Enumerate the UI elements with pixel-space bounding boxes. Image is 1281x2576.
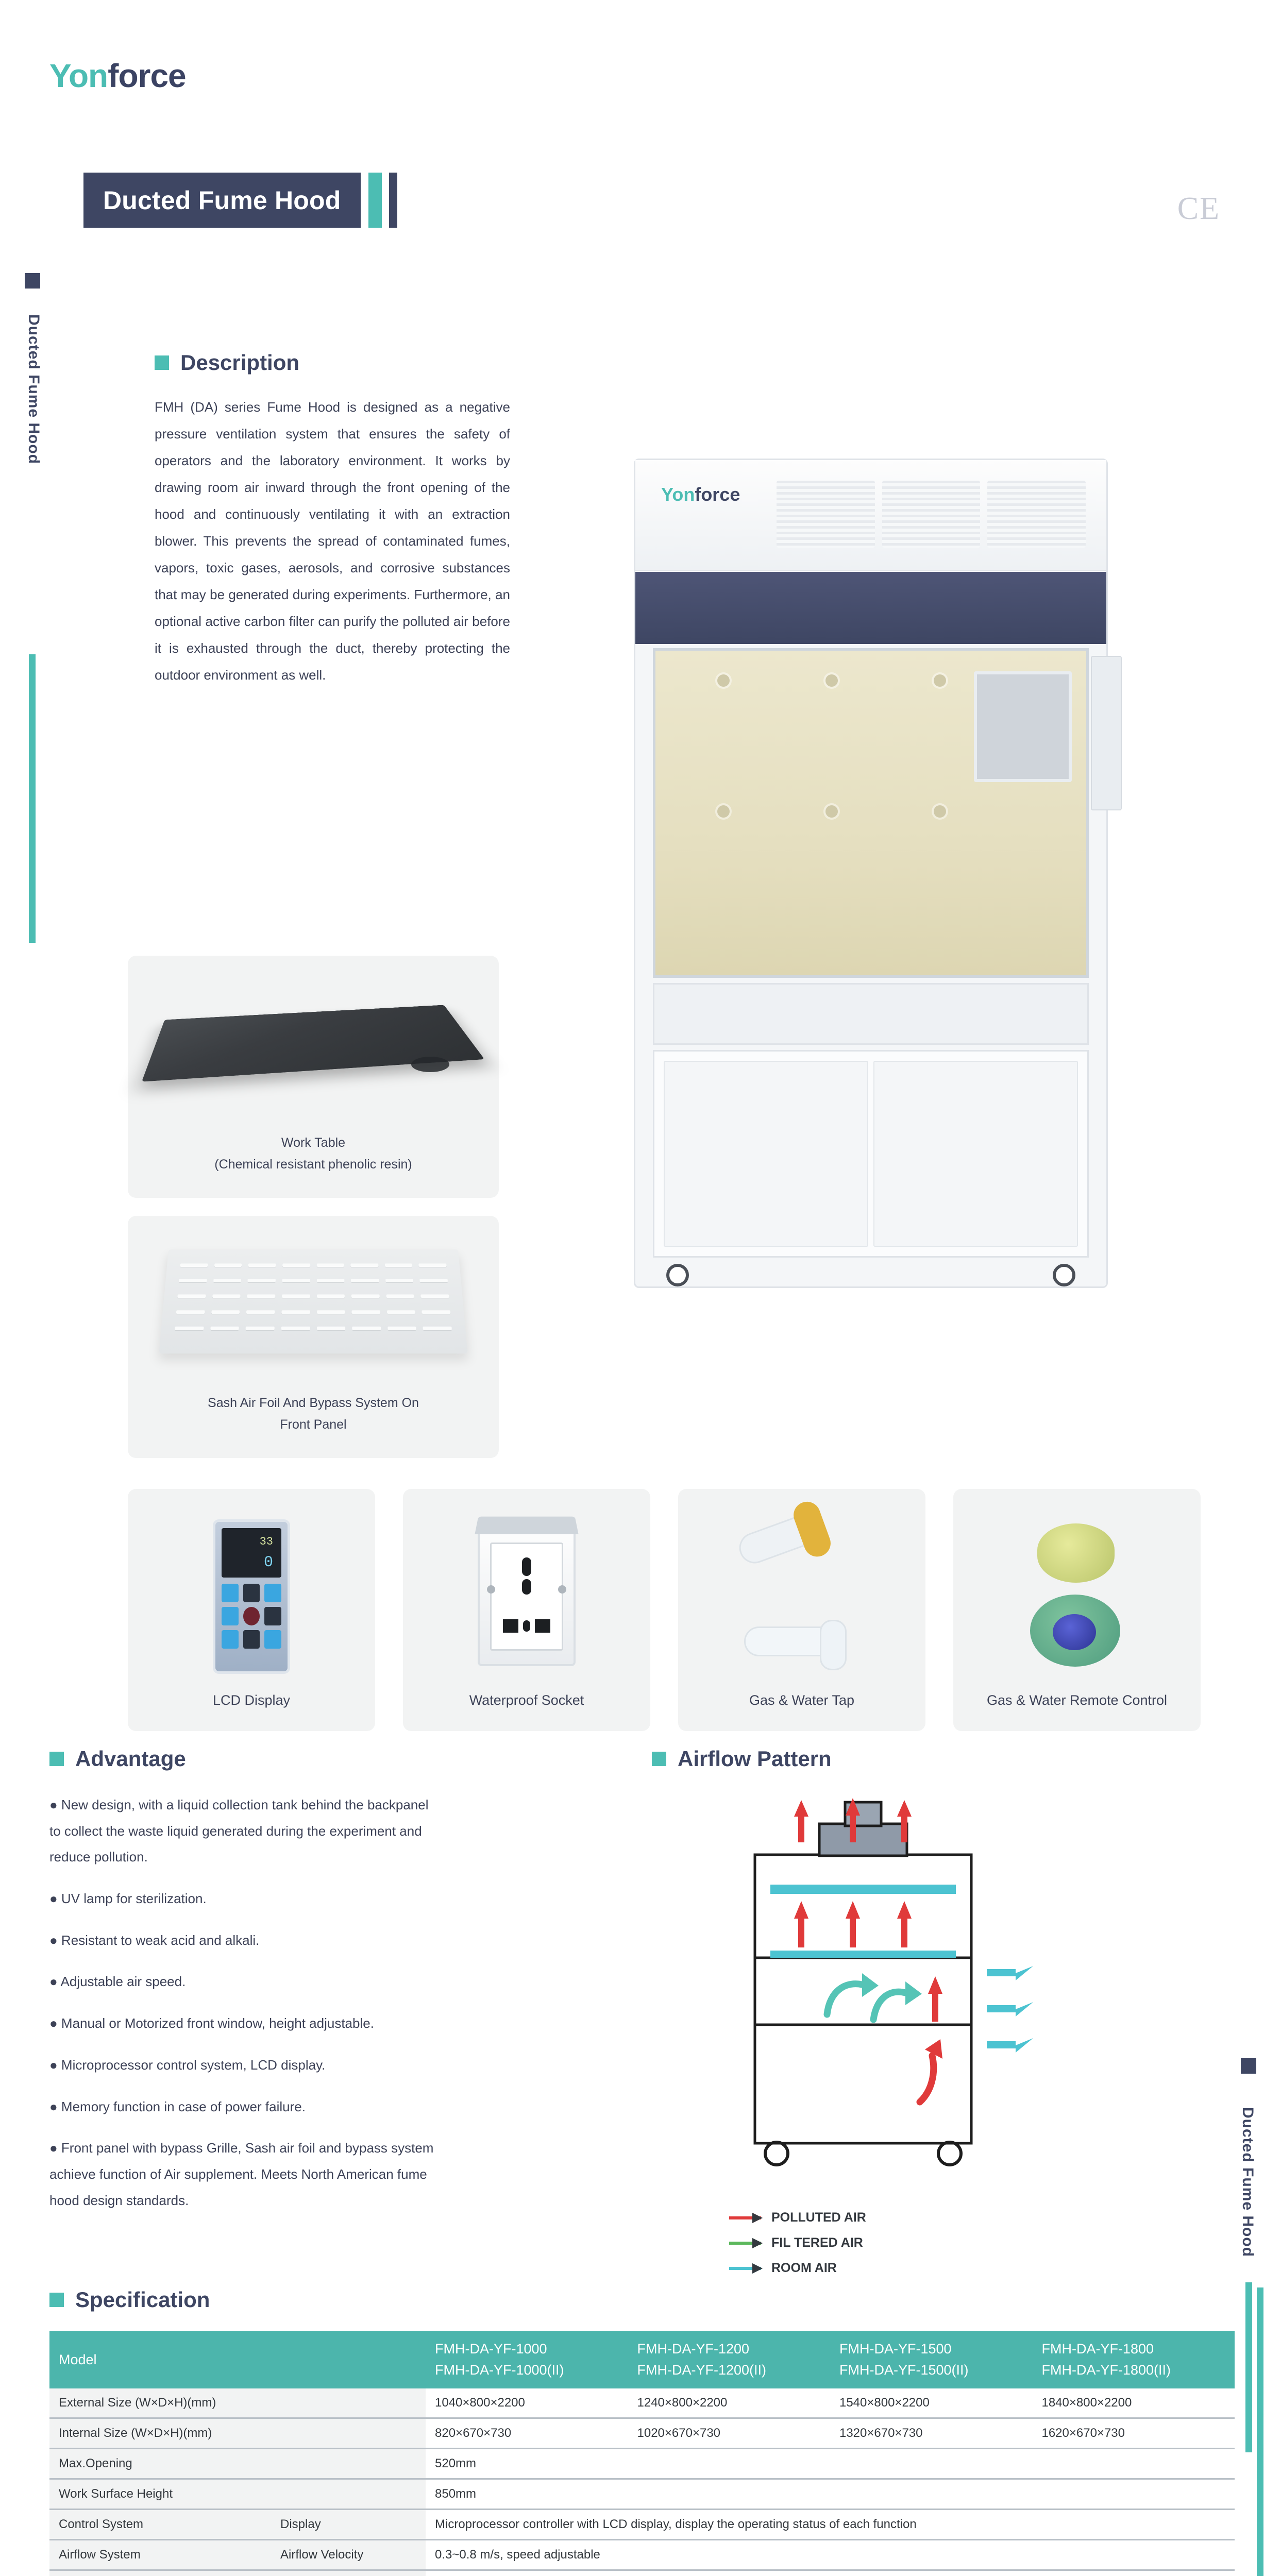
airflow-heading-label: Airflow Pattern: [678, 1747, 832, 1771]
gas-water-tap-icon: [678, 1512, 925, 1682]
header-model-label: Model: [49, 2331, 426, 2388]
airflow-legend: POLLUTED AIR FIL TERED AIR ROOM AIR: [729, 2210, 866, 2286]
logo-text-primary: Yon: [49, 57, 108, 94]
work-table-caption-2: (Chemical resistant phenolic resin): [128, 1154, 499, 1176]
list-item: ● Microprocessor control system, LCD dis…: [49, 2052, 441, 2078]
bypass-grille-icon: [777, 481, 1086, 548]
square-bullet-icon: [49, 1752, 64, 1766]
feature-card-gas-water-tap: Gas & Water Tap: [678, 1489, 925, 1731]
feature-card-caption: Gas & Water Tap: [678, 1692, 925, 1708]
sash-air-foil-card: Sash Air Foil And Bypass System On Front…: [128, 1216, 499, 1458]
lcd-display-icon: 33 0: [128, 1512, 375, 1682]
fume-hood-chamber: [653, 648, 1089, 978]
feature-card-caption: Waterproof Socket: [403, 1692, 650, 1708]
list-item: ● Adjustable air speed.: [49, 1969, 441, 1995]
fume-hood-midsection: [653, 983, 1089, 1045]
legend-item-polluted-air: POLLUTED AIR: [729, 2210, 866, 2225]
square-bullet-icon: [49, 2293, 64, 2307]
table-row-internal-size: Internal Size (W×D×H)(mm) 820×670×730 10…: [49, 2418, 1235, 2449]
side-control-panel: [1091, 656, 1122, 810]
arrow-icon: [729, 2242, 761, 2245]
square-bullet-icon: [155, 355, 169, 370]
rail-square-left: [25, 273, 40, 289]
airflow-section: Airflow Pattern: [652, 1747, 1167, 1771]
lcd-reading-bottom: 0: [264, 1554, 273, 1571]
header-model-col-2: FMH-DA-YF-1200FMH-DA-YF-1200(II): [628, 2331, 830, 2388]
list-item: ● Front panel with bypass Grille, Sash a…: [49, 2135, 441, 2213]
advantage-heading-label: Advantage: [75, 1747, 186, 1771]
fume-hood-body: Yonforce: [634, 459, 1108, 1288]
arrow-icon: [729, 2267, 761, 2270]
product-title-bar: Ducted Fume Hood: [83, 173, 397, 228]
gas-water-remote-icon: [953, 1512, 1201, 1682]
accent-bar-dark: [389, 173, 397, 228]
table-accent-bar: [1257, 2287, 1263, 2576]
datasheet-page: Yonforce Ducted Fume Hood CE Ducted Fume…: [0, 0, 1281, 2576]
sash-grille-row: [176, 1310, 451, 1314]
table-row-control-system: Control System Display Microprocessor co…: [49, 2510, 1235, 2540]
table-row-cabinet-exterior: Cabinet Construction Exterior Electro-Ga…: [49, 2570, 1235, 2576]
base-cabinet: [653, 1050, 1089, 1258]
arrow-icon: [729, 2216, 761, 2219]
advantage-heading: Advantage: [49, 1747, 441, 1771]
list-item: ● Memory function in case of power failu…: [49, 2094, 441, 2120]
chamber-light-icon: [934, 674, 946, 687]
table-row-max-opening: Max.Opening 520mm: [49, 2449, 1235, 2479]
fume-hood-top-panel: Yonforce: [635, 460, 1106, 571]
specification-section: Specification Model FMH-DA-YF-1000FMH-DA…: [49, 2287, 1235, 2576]
feature-card-lcd-display: 33 0 LCD Display: [128, 1489, 375, 1731]
chamber-light-icon: [717, 805, 730, 818]
specification-table: Model FMH-DA-YF-1000FMH-DA-YF-1000(II) F…: [49, 2331, 1235, 2576]
airflow-heading: Airflow Pattern: [652, 1747, 1167, 1771]
table-header-row: Model FMH-DA-YF-1000FMH-DA-YF-1000(II) F…: [49, 2331, 1235, 2388]
sash-grille-row: [179, 1279, 448, 1282]
legend-label: FIL TERED AIR: [771, 2235, 863, 2250]
company-logo: Yonforce: [49, 57, 186, 95]
advantage-section: Advantage ● New design, with a liquid co…: [49, 1747, 441, 2229]
chamber-light-icon: [825, 674, 838, 687]
chamber-light-icon: [825, 805, 838, 818]
lcd-reading-top: 33: [260, 1535, 273, 1548]
sash-grille-row: [177, 1294, 449, 1298]
specification-heading-label: Specification: [75, 2287, 210, 2312]
description-heading-label: Description: [180, 350, 299, 375]
description-heading: Description: [155, 350, 510, 375]
caster-wheel-icon: [1053, 1264, 1075, 1286]
ce-mark: CE: [1177, 191, 1220, 227]
airflow-diagram-svg: [724, 1793, 1043, 2195]
rail-line-right: [1245, 2282, 1252, 2452]
rail-line-left: [29, 654, 36, 943]
chamber-light-icon: [717, 674, 730, 687]
header-model-col-3: FMH-DA-YF-1500FMH-DA-YF-1500(II): [830, 2331, 1032, 2388]
work-table-caption-1: Work Table: [128, 1132, 499, 1154]
description-section: Description FMH (DA) series Fume Hood is…: [155, 350, 510, 688]
fume-hood-dark-band: [635, 572, 1106, 644]
rail-label-right: Ducted Fume Hood: [1239, 2107, 1256, 2257]
list-item: ● Resistant to weak acid and alkali.: [49, 1927, 441, 1954]
product-photo: Yonforce: [557, 428, 1190, 1463]
airflow-diagram: [724, 1793, 1043, 2195]
page-title: Ducted Fume Hood: [83, 173, 361, 228]
list-item: ● UV lamp for sterilization.: [49, 1886, 441, 1912]
sash-panel-image: [159, 1249, 467, 1353]
advantage-list: ● New design, with a liquid collection t…: [49, 1792, 441, 2213]
logo-text-secondary: force: [108, 57, 186, 94]
rail-square-right: [1241, 2058, 1256, 2074]
sash-grille-row: [180, 1264, 446, 1267]
table-row-work-surface-height: Work Surface Height 850mm: [49, 2479, 1235, 2510]
caster-wheel-icon: [666, 1264, 689, 1286]
chamber-light-icon: [934, 805, 946, 818]
waterproof-socket-icon: [403, 1512, 650, 1682]
legend-label: POLLUTED AIR: [771, 2210, 866, 2225]
legend-label: ROOM AIR: [771, 2261, 837, 2276]
list-item: ● Manual or Motorized front window, heig…: [49, 2010, 441, 2037]
list-item: ● New design, with a liquid collection t…: [49, 1792, 441, 1870]
rail-label-left: Ducted Fume Hood: [25, 314, 42, 464]
feature-card-caption: Gas & Water Remote Control: [953, 1692, 1201, 1708]
specification-heading: Specification: [49, 2287, 1235, 2312]
feature-card-gas-water-remote: Gas & Water Remote Control: [953, 1489, 1201, 1731]
sash-grille-row: [175, 1327, 452, 1330]
table-row-airflow-system: Airflow System Airflow Velocity 0.3~0.8 …: [49, 2540, 1235, 2570]
work-table-card: Work Table (Chemical resistant phenolic …: [128, 956, 499, 1198]
table-row-external-size: External Size (W×D×H)(mm) 1040×800×2200 …: [49, 2388, 1235, 2418]
header-model-col-1: FMH-DA-YF-1000FMH-DA-YF-1000(II): [426, 2331, 628, 2388]
sash-caption-2: Front Panel: [128, 1414, 499, 1436]
feature-card-waterproof-socket: Waterproof Socket: [403, 1489, 650, 1731]
feature-card-caption: LCD Display: [128, 1692, 375, 1708]
sash-caption-1: Sash Air Foil And Bypass System On: [128, 1392, 499, 1414]
header-model-col-4: FMH-DA-YF-1800FMH-DA-YF-1800(II): [1032, 2331, 1235, 2388]
accent-bar-teal: [368, 173, 382, 228]
work-table-sink-icon: [411, 1057, 449, 1072]
chamber-window: [974, 671, 1072, 782]
legend-item-room-air: ROOM AIR: [729, 2261, 866, 2276]
product-brand-label: Yonforce: [661, 484, 740, 505]
square-bullet-icon: [652, 1752, 666, 1766]
description-body: FMH (DA) series Fume Hood is designed as…: [155, 394, 510, 688]
legend-item-filtered-air: FIL TERED AIR: [729, 2235, 866, 2250]
